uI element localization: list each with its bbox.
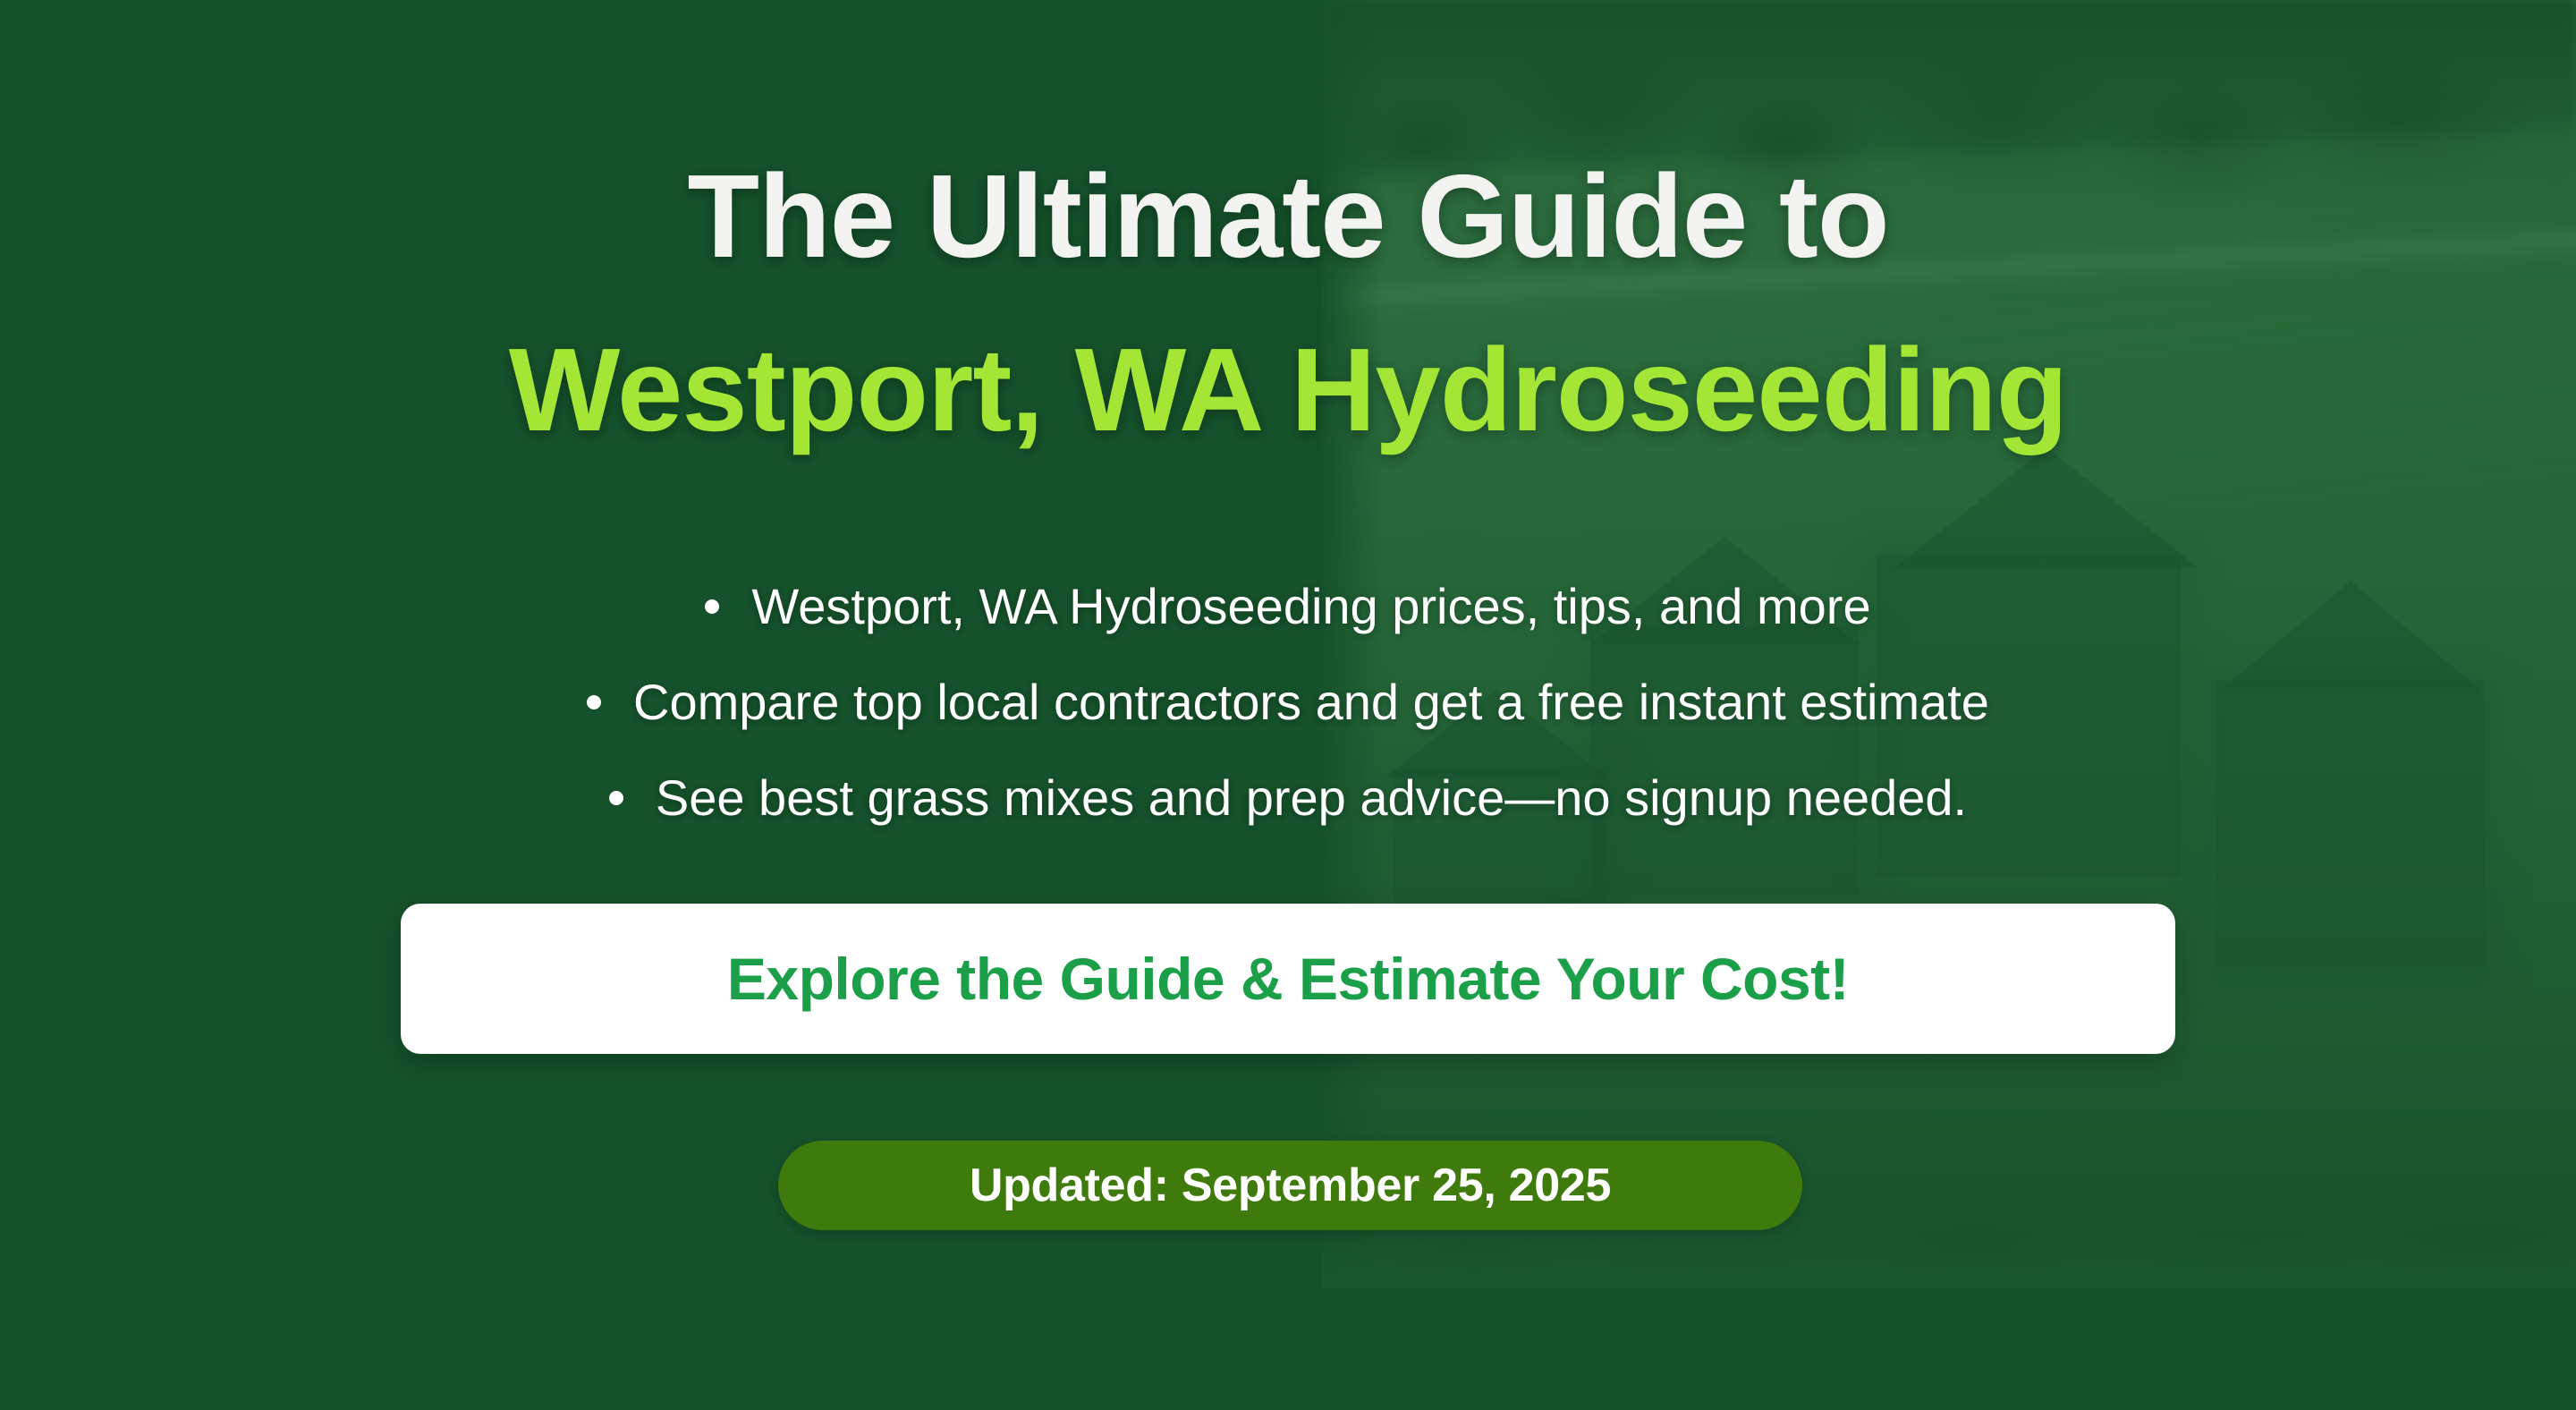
banner-content: The Ultimate Guide to Westport, WA Hydro… bbox=[0, 0, 2576, 1410]
bullet-dot-icon bbox=[705, 599, 719, 614]
bullet-dot-icon bbox=[609, 791, 623, 805]
hero-banner: The Ultimate Guide to Westport, WA Hydro… bbox=[0, 0, 2576, 1410]
benefit-list: Westport, WA Hydroseeding prices, tips, … bbox=[0, 582, 2576, 869]
list-item-label: See best grass mixes and prep advice—no … bbox=[656, 769, 1967, 826]
explore-guide-cta-button[interactable]: Explore the Guide & Estimate Your Cost! bbox=[401, 904, 2175, 1054]
list-item: See best grass mixes and prep advice—no … bbox=[0, 773, 2576, 823]
list-item-label: Compare top local contractors and get a … bbox=[633, 674, 1989, 730]
headline-line-1: The Ultimate Guide to bbox=[0, 157, 2576, 276]
list-item: Compare top local contractors and get a … bbox=[0, 677, 2576, 727]
last-updated-badge: Updated: September 25, 2025 bbox=[778, 1141, 1802, 1230]
headline-line-2: Westport, WA Hydroseeding bbox=[0, 331, 2576, 449]
list-item: Westport, WA Hydroseeding prices, tips, … bbox=[0, 582, 2576, 632]
bullet-dot-icon bbox=[587, 695, 601, 709]
list-item-label: Westport, WA Hydroseeding prices, tips, … bbox=[751, 578, 1870, 634]
